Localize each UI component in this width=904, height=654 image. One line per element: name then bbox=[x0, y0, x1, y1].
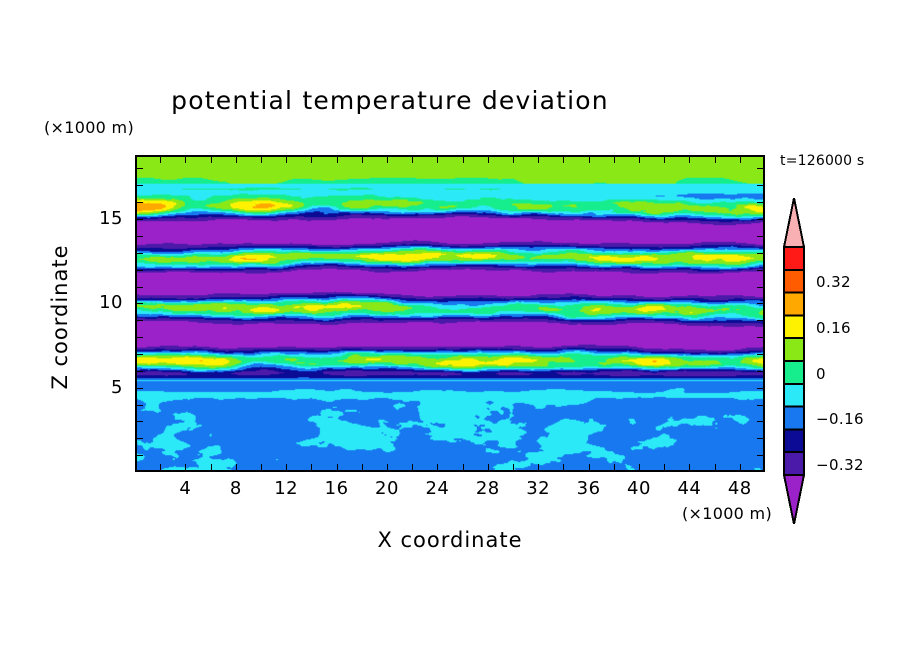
page-title: potential temperature deviation bbox=[0, 86, 780, 115]
x-tick-minor bbox=[387, 464, 388, 472]
x-tick-minor-top bbox=[362, 155, 363, 163]
contour-field bbox=[137, 157, 763, 470]
x-tick-minor-top bbox=[589, 155, 590, 163]
x-tick-minor bbox=[589, 464, 590, 472]
y-tick-minor-right bbox=[757, 337, 765, 338]
x-tick-minor-top bbox=[286, 155, 287, 163]
y-tick-minor bbox=[135, 185, 143, 186]
x-tick-label: 40 bbox=[619, 478, 659, 499]
y-tick-minor bbox=[135, 236, 143, 237]
colorbar bbox=[781, 198, 807, 524]
y-tick-minor bbox=[135, 405, 143, 406]
x-tick-label: 28 bbox=[468, 478, 508, 499]
y-tick-minor-right bbox=[757, 438, 765, 439]
y-tick-minor bbox=[135, 270, 143, 271]
y-tick-minor bbox=[135, 219, 143, 220]
x-tick-minor bbox=[211, 464, 212, 472]
x-tick-minor-top bbox=[488, 155, 489, 163]
x-tick-minor bbox=[740, 464, 741, 472]
x-tick-label: 20 bbox=[367, 478, 407, 499]
y-tick-minor bbox=[135, 320, 143, 321]
y-tick-minor-right bbox=[757, 421, 765, 422]
colorbar-tick-label: 0.16 bbox=[816, 319, 851, 337]
x-axis-title: X coordinate bbox=[235, 528, 665, 552]
x-tick-minor-top bbox=[261, 155, 262, 163]
colorbar-tick-label: −0.32 bbox=[816, 456, 864, 474]
y-tick-minor-right bbox=[757, 219, 765, 220]
x-tick-minor-top bbox=[689, 155, 690, 163]
x-tick-minor bbox=[463, 464, 464, 472]
x-tick-minor bbox=[362, 464, 363, 472]
y-tick-minor bbox=[135, 371, 143, 372]
y-tick-minor bbox=[135, 287, 143, 288]
y-tick-minor-right bbox=[757, 455, 765, 456]
x-tick-label: 36 bbox=[569, 478, 609, 499]
x-tick-minor bbox=[437, 464, 438, 472]
x-tick-minor bbox=[689, 464, 690, 472]
x-tick-minor bbox=[614, 464, 615, 472]
colorbar-tick-label: 0 bbox=[816, 365, 826, 383]
x-tick-minor bbox=[513, 464, 514, 472]
y-tick-minor bbox=[135, 168, 143, 169]
x-tick-minor-top bbox=[664, 155, 665, 163]
y-tick-minor bbox=[135, 253, 143, 254]
y-tick-minor-right bbox=[757, 168, 765, 169]
x-tick-minor-top bbox=[311, 155, 312, 163]
x-tick-minor-top bbox=[538, 155, 539, 163]
x-tick-label: 8 bbox=[216, 478, 256, 499]
y-tick-minor-right bbox=[757, 202, 765, 203]
y-tick-minor-right bbox=[757, 303, 765, 304]
x-tick-minor-top bbox=[437, 155, 438, 163]
colorbar-tick-label: −0.16 bbox=[816, 410, 864, 428]
y-tick-minor bbox=[135, 388, 143, 389]
x-tick-minor bbox=[563, 464, 564, 472]
x-tick-minor-top bbox=[337, 155, 338, 163]
y-tick-minor-right bbox=[757, 371, 765, 372]
x-tick-minor-top bbox=[513, 155, 514, 163]
y-tick-minor-right bbox=[757, 253, 765, 254]
y-tick-minor-right bbox=[757, 236, 765, 237]
x-tick-minor bbox=[412, 464, 413, 472]
y-tick-minor bbox=[135, 354, 143, 355]
x-tick-minor bbox=[639, 464, 640, 472]
y-tick-minor-right bbox=[757, 405, 765, 406]
x-tick-label: 12 bbox=[266, 478, 306, 499]
x-tick-minor-top bbox=[614, 155, 615, 163]
x-tick-minor bbox=[538, 464, 539, 472]
time-stamp-annotation: t=126000 s bbox=[780, 153, 864, 169]
x-tick-minor bbox=[261, 464, 262, 472]
y-tick-minor bbox=[135, 337, 143, 338]
y-tick-minor bbox=[135, 421, 143, 422]
x-tick-minor bbox=[286, 464, 287, 472]
y-tick-minor-right bbox=[757, 388, 765, 389]
y-tick-label: 5 bbox=[83, 377, 123, 398]
x-tick-minor bbox=[160, 464, 161, 472]
x-tick-minor-top bbox=[211, 155, 212, 163]
x-tick-minor bbox=[236, 464, 237, 472]
y-tick-minor-right bbox=[757, 270, 765, 271]
y-tick-label: 10 bbox=[83, 292, 123, 313]
x-tick-minor bbox=[488, 464, 489, 472]
x-tick-minor-top bbox=[236, 155, 237, 163]
y-tick-minor-right bbox=[757, 320, 765, 321]
x-tick-label: 48 bbox=[720, 478, 760, 499]
x-tick-minor-top bbox=[715, 155, 716, 163]
x-axis-unit-note: (×1000 m) bbox=[682, 504, 772, 523]
colorbar-tick-label: 0.32 bbox=[816, 273, 851, 291]
x-tick-minor bbox=[715, 464, 716, 472]
x-tick-minor-top bbox=[160, 155, 161, 163]
y-tick-minor bbox=[135, 202, 143, 203]
x-tick-minor-top bbox=[387, 155, 388, 163]
y-tick-minor bbox=[135, 455, 143, 456]
x-tick-label: 32 bbox=[518, 478, 558, 499]
x-tick-minor bbox=[185, 464, 186, 472]
x-tick-label: 44 bbox=[669, 478, 709, 499]
y-tick-minor-right bbox=[757, 287, 765, 288]
y-tick-minor bbox=[135, 303, 143, 304]
x-tick-label: 16 bbox=[317, 478, 357, 499]
y-tick-label: 15 bbox=[83, 208, 123, 229]
y-tick-minor bbox=[135, 438, 143, 439]
x-tick-minor-top bbox=[463, 155, 464, 163]
x-tick-minor-top bbox=[740, 155, 741, 163]
x-tick-minor bbox=[337, 464, 338, 472]
y-tick-minor-right bbox=[757, 185, 765, 186]
x-tick-label: 4 bbox=[165, 478, 205, 499]
y-axis-title: Z coordinate bbox=[48, 217, 72, 417]
contour-plot-area bbox=[135, 155, 765, 472]
x-tick-minor bbox=[664, 464, 665, 472]
x-tick-minor-top bbox=[412, 155, 413, 163]
x-tick-minor bbox=[311, 464, 312, 472]
x-tick-minor-top bbox=[185, 155, 186, 163]
x-tick-minor-top bbox=[563, 155, 564, 163]
x-tick-minor-top bbox=[639, 155, 640, 163]
y-tick-minor-right bbox=[757, 354, 765, 355]
x-tick-label: 24 bbox=[417, 478, 457, 499]
y-axis-unit-note: (×1000 m) bbox=[44, 118, 134, 137]
